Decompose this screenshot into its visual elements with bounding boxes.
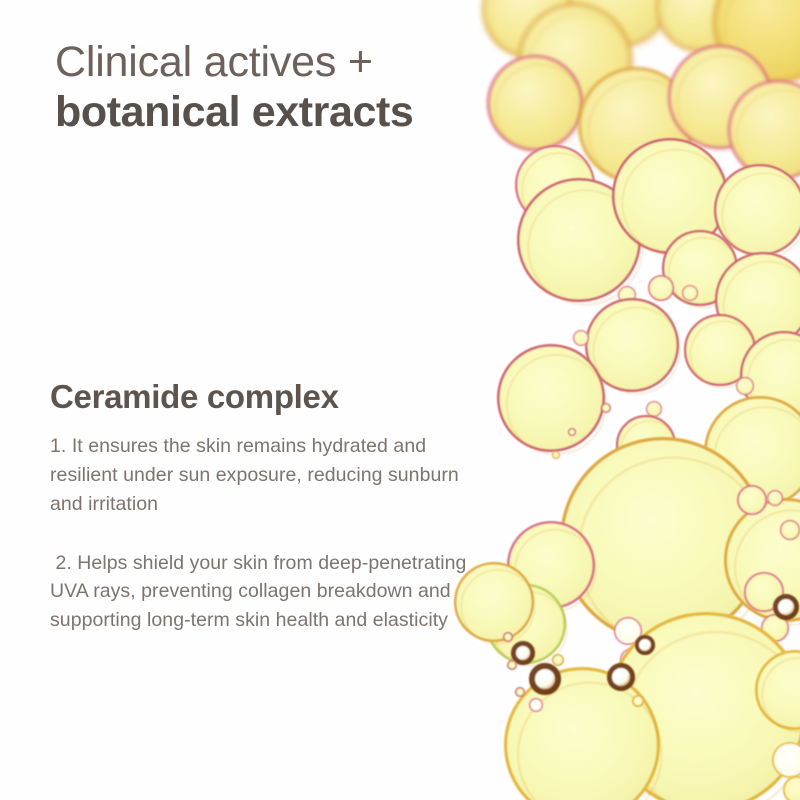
headline-line-2: botanical extracts [55,88,505,136]
section-heading: Ceramide complex [50,378,470,416]
headline-block: Clinical actives + botanical extracts [55,38,505,136]
benefit-paragraph-2: 2. Helps shield your skin from deep-pene… [50,549,470,636]
headline-line-1: Clinical actives + [55,38,505,86]
poster-canvas: Clinical actives + botanical extracts Ce… [0,0,800,800]
text-layer: Clinical actives + botanical extracts Ce… [0,0,800,800]
benefit-paragraph-1: 1. It ensures the skin remains hydrated … [50,432,470,519]
ceramide-section: Ceramide complex 1. It ensures the skin … [50,378,470,635]
